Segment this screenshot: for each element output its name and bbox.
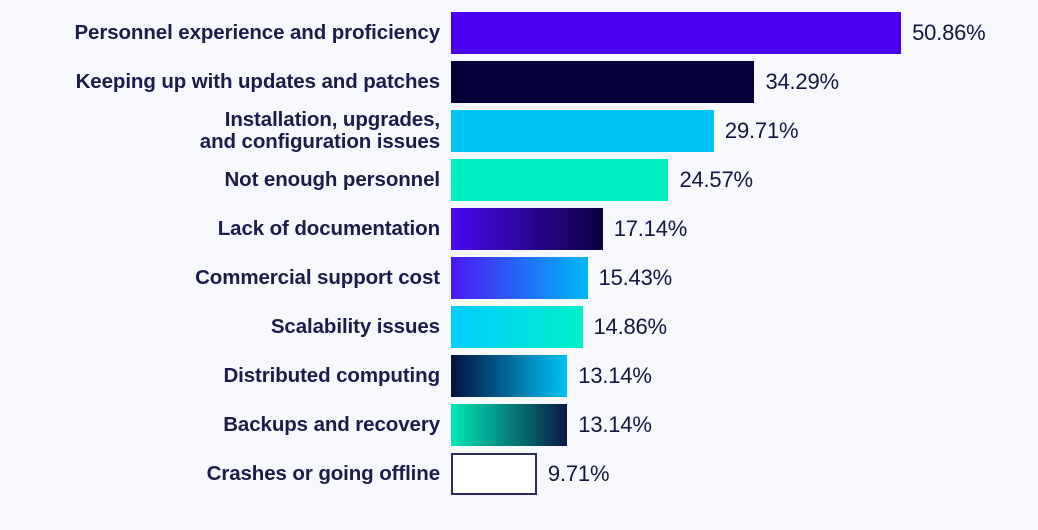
bar-area: 9.71% <box>451 453 1038 495</box>
bar-area: 17.14% <box>451 208 1038 250</box>
bar-area: 13.14% <box>451 404 1038 446</box>
bar-not-enough-personnel[interactable] <box>451 159 668 201</box>
bar-area: 15.43% <box>451 257 1038 299</box>
chart-row: Commercial support cost15.43% <box>0 257 1038 299</box>
category-label: Scalability issues <box>0 316 451 338</box>
chart-row: Crashes or going offline9.71% <box>0 453 1038 495</box>
bar-area: 34.29% <box>451 61 1038 103</box>
bar-value-label: 50.86% <box>912 20 985 46</box>
bar-installation-upgrades[interactable] <box>451 110 714 152</box>
chart-row: Not enough personnel24.57% <box>0 159 1038 201</box>
bar-area: 13.14% <box>451 355 1038 397</box>
bar-area: 50.86% <box>451 12 1038 54</box>
chart-row: Personnel experience and proficiency50.8… <box>0 12 1038 54</box>
bar-lack-of-documentation[interactable] <box>451 208 603 250</box>
bar-area: 29.71% <box>451 110 1038 152</box>
bar-value-label: 15.43% <box>599 265 672 291</box>
bar-area: 14.86% <box>451 306 1038 348</box>
category-label: Lack of documentation <box>0 218 451 240</box>
category-label: Installation, upgrades, and configuratio… <box>0 109 451 153</box>
horizontal-bar-chart: Personnel experience and proficiency50.8… <box>0 0 1038 530</box>
category-label: Not enough personnel <box>0 169 451 191</box>
chart-row: Keeping up with updates and patches34.29… <box>0 61 1038 103</box>
bar-backups-and-recovery[interactable] <box>451 404 567 446</box>
bar-scalability-issues[interactable] <box>451 306 583 348</box>
bar-value-label: 29.71% <box>725 118 798 144</box>
bar-value-label: 17.14% <box>614 216 687 242</box>
bar-distributed-computing[interactable] <box>451 355 567 397</box>
bar-value-label: 34.29% <box>765 69 838 95</box>
bar-commercial-support-cost[interactable] <box>451 257 588 299</box>
bar-keeping-up-updates[interactable] <box>451 61 754 103</box>
chart-row: Lack of documentation17.14% <box>0 208 1038 250</box>
bar-crashes-going-offline[interactable] <box>451 453 537 495</box>
bar-value-label: 13.14% <box>578 412 651 438</box>
category-label: Personnel experience and proficiency <box>0 22 451 44</box>
chart-rows: Personnel experience and proficiency50.8… <box>0 12 1038 502</box>
bar-area: 24.57% <box>451 159 1038 201</box>
bar-value-label: 24.57% <box>679 167 752 193</box>
chart-row: Scalability issues14.86% <box>0 306 1038 348</box>
category-label: Commercial support cost <box>0 267 451 289</box>
bar-value-label: 14.86% <box>594 314 667 340</box>
bar-value-label: 13.14% <box>578 363 651 389</box>
chart-row: Backups and recovery13.14% <box>0 404 1038 446</box>
category-label: Crashes or going offline <box>0 463 451 485</box>
bar-personnel-experience[interactable] <box>451 12 901 54</box>
bar-value-label: 9.71% <box>548 461 609 487</box>
category-label: Distributed computing <box>0 365 451 387</box>
chart-row: Distributed computing13.14% <box>0 355 1038 397</box>
chart-row: Installation, upgrades, and configuratio… <box>0 110 1038 152</box>
category-label: Keeping up with updates and patches <box>0 71 451 93</box>
category-label: Backups and recovery <box>0 414 451 436</box>
